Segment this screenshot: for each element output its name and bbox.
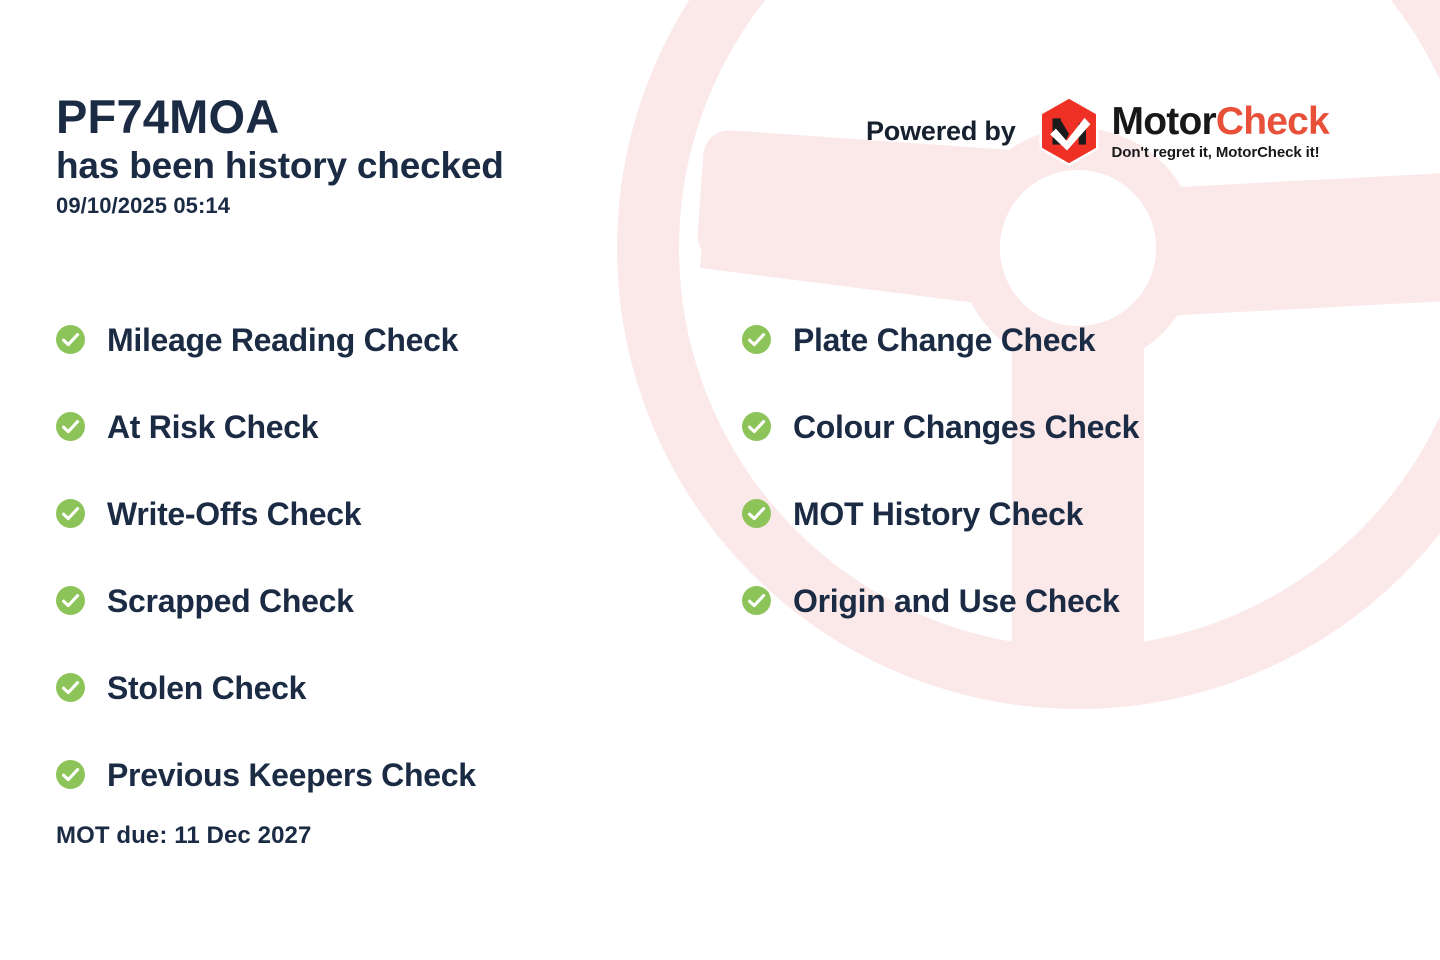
check-circle-icon [56,586,85,615]
check-item-label: Plate Change Check [793,324,1095,356]
check-item-label: Colour Changes Check [793,411,1139,443]
vehicle-history-check-card: PF74MOA has been history checked 09/10/2… [0,0,1440,960]
check-item-label: Origin and Use Check [793,585,1120,617]
check-circle-icon [742,325,771,354]
page-title-plate: PF74MOA [56,92,716,142]
motorcheck-logo[interactable]: MotorCheck Don't regret it, MotorCheck i… [1036,96,1329,166]
mot-due-label: MOT due: 11 Dec 2027 [56,822,311,850]
check-list-left: Mileage Reading Check At Risk Check Writ… [56,296,476,818]
list-item: Origin and Use Check [742,557,1139,644]
list-item: Colour Changes Check [742,383,1139,470]
check-circle-icon [742,412,771,441]
motorcheck-tagline: Don't regret it, MotorCheck it! [1112,145,1329,160]
check-circle-icon [56,499,85,528]
list-item: MOT History Check [742,470,1139,557]
check-item-label: Previous Keepers Check [107,759,476,791]
list-item: Write-Offs Check [56,470,476,557]
check-list-right: Plate Change Check Colour Changes Check … [742,296,1139,644]
check-item-label: Stolen Check [107,672,306,704]
list-item: Plate Change Check [742,296,1139,383]
check-timestamp: 09/10/2025 05:14 [56,193,716,219]
headline-block: PF74MOA has been history checked 09/10/2… [56,92,716,219]
wordmark-check: Check [1216,100,1329,143]
motorcheck-wordmark: MotorCheck [1112,102,1329,141]
check-item-label: Write-Offs Check [107,498,361,530]
page-subtitle: has been history checked [56,144,716,188]
check-circle-icon [56,412,85,441]
check-circle-icon [742,586,771,615]
check-circle-icon [56,673,85,702]
list-item: Scrapped Check [56,557,476,644]
motorcheck-wordmark-block: MotorCheck Don't regret it, MotorCheck i… [1112,102,1329,160]
list-item: Previous Keepers Check [56,731,476,818]
check-item-label: Mileage Reading Check [107,324,458,356]
list-item: At Risk Check [56,383,476,470]
wordmark-motor: Motor [1112,100,1216,143]
motorcheck-hexagon-icon [1036,96,1102,166]
powered-by-block: Powered by MotorCheck Don't regret it, M… [866,96,1329,166]
check-item-label: At Risk Check [107,411,318,443]
check-circle-icon [56,760,85,789]
powered-by-label: Powered by [866,116,1016,147]
check-item-label: MOT History Check [793,498,1083,530]
check-item-label: Scrapped Check [107,585,354,617]
check-circle-icon [56,325,85,354]
list-item: Stolen Check [56,644,476,731]
list-item: Mileage Reading Check [56,296,476,383]
check-circle-icon [742,499,771,528]
